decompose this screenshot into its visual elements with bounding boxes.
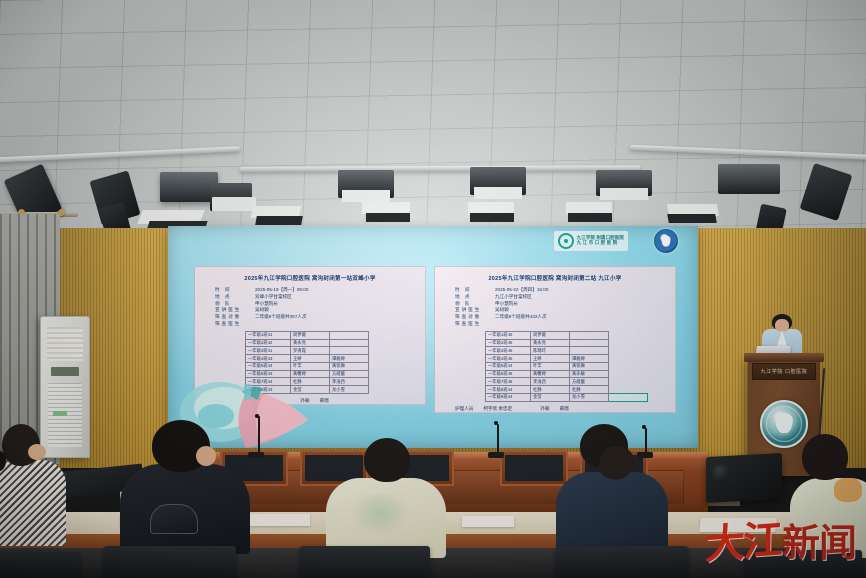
footer-names: 柯宇欣 余忠定 — [483, 406, 512, 412]
stage-light — [366, 213, 410, 222]
meta-value: 申小慧院长 — [255, 301, 419, 308]
stage-light — [667, 214, 717, 223]
audience-member — [556, 424, 668, 556]
screening-doctor-table-left: 一年级1班41闵伊璇 一年级2班42黄永亮 一年级3班41罗清霞 一年级4班43… — [245, 331, 369, 394]
paper-sheet — [462, 516, 514, 527]
person-head — [802, 434, 848, 480]
meta-key: 筛查医生 — [441, 321, 495, 328]
table-row: 一年级7班45李浅西方越蕾 — [486, 378, 648, 386]
table-row: 一年级6班45黄馨婷黄乐敏 — [486, 370, 648, 378]
stage-light — [474, 187, 522, 199]
lectern-top — [744, 353, 824, 362]
audience-chair — [300, 546, 430, 578]
microphone-head-icon — [255, 414, 259, 418]
meta-value: 二年级9个班级共432人次 — [495, 314, 669, 321]
meta-key: 地 点 — [441, 294, 495, 301]
slide-footer-left: 护理人员 柯宇欣 余忠定 外联 黄瑞 — [201, 398, 419, 404]
table-row: 一年级7班44杜静李浅西 — [246, 378, 369, 386]
stage-light — [212, 197, 256, 211]
person-ear — [196, 446, 216, 466]
ac-display — [51, 367, 79, 376]
paper-sheet — [250, 514, 310, 526]
meta-key: 时 间 — [201, 287, 255, 294]
lectern-nameplate: 九江学院 口腔医院 — [752, 363, 816, 380]
table-row: 一年级2班42黄永亮 — [246, 339, 369, 347]
table-row: 一年级1班41闵伊璇 — [246, 331, 369, 339]
audience-chair — [104, 546, 236, 578]
table-row: 一年级3班41罗清霞 — [246, 347, 369, 355]
table-row: 一年级9班44金莹龙小雪 — [486, 394, 648, 402]
meta-key: 地 点 — [201, 294, 255, 301]
meta-value — [255, 321, 419, 328]
highlighted-cell — [609, 394, 648, 402]
slide-logo-bar: 九江学院 附属口腔医院 九 江 市 口 腔 医 院 — [554, 229, 678, 253]
slide-panel-right: 2025年九江学院口腔医院 窝沟封闭第二站 九江小学 时 间2025-05-22… — [434, 266, 676, 413]
stage-light — [470, 213, 514, 222]
screening-doctor-table-right: 一年级1班45闵伊璇 一年级2班45黄永亮 一年级3班45陈璐玲 一年级4班45… — [485, 331, 648, 402]
meta-value: 二年级9个班级共357人次 — [255, 314, 419, 321]
meta-value: 双峰小学甘棠校区 — [255, 294, 419, 301]
audience-member — [0, 424, 66, 544]
meta-key: 时 间 — [441, 287, 495, 294]
table-row: 一年级2班45黄永亮 — [486, 339, 648, 347]
table-row: 一年级8班43金莹龙小雪 — [246, 386, 369, 394]
slide-panel-left: 2025年九江学院口腔医院 窝沟封闭第一站双峰小学 时 间2025-05-19【… — [194, 266, 426, 405]
projection-screen: 九江学院 附属口腔医院 九 江 市 口 腔 医 院 2025年九江学院口腔医院 … — [168, 226, 698, 448]
footer-label: 护理人员 — [455, 406, 473, 412]
table-row: 一年级4班45王婷谭雅婷 — [486, 355, 648, 363]
photo-scene: 九江学院 附属口腔医院 九 江 市 口 腔 医 院 2025年九江学院口腔医院 … — [0, 0, 866, 578]
slide-meta-left: 时 间2025-05-19【周一】09:00 地 点双峰小学甘棠校区 领 队申小… — [201, 287, 419, 328]
table-row: 一年级8班44杜静杜静 — [486, 386, 648, 394]
person-torso — [0, 460, 66, 546]
footer-label-2: 外联 — [300, 398, 309, 404]
logo-line-2: 九 江 市 口 腔 医 院 — [577, 241, 624, 246]
meta-key: 筛查对象 — [201, 314, 255, 321]
stage-light — [718, 164, 780, 194]
person-head — [364, 438, 410, 482]
meta-value: 九江小学甘棠校区 — [495, 294, 669, 301]
ac-indicator — [53, 411, 67, 416]
audience-member — [326, 438, 446, 553]
microphone-head-icon — [494, 421, 498, 425]
footer-name-2: 黄瑞 — [559, 406, 568, 412]
watermark-dark-text: 新闻 — [782, 526, 856, 560]
microphone-base — [488, 452, 504, 458]
slide-title-left: 2025年九江学院口腔医院 窝沟封闭第一站双峰小学 — [201, 274, 419, 282]
meta-key: 筛查医生 — [201, 321, 255, 328]
meta-value — [495, 321, 669, 328]
audience-member — [120, 420, 250, 550]
backpack — [150, 504, 198, 534]
footer-label-2: 外联 — [540, 406, 549, 412]
round-blue-tooth-emblem-icon — [654, 229, 678, 253]
table-row: 一年级6班43黄馨婷方越蕾 — [246, 370, 369, 378]
stage-light — [568, 213, 612, 222]
stage-light — [342, 190, 390, 202]
table-row: 一年级1班45闵伊璇 — [486, 331, 648, 339]
table-row: 一年级3班45陈璐玲 — [486, 347, 648, 355]
audience-chair — [0, 552, 80, 578]
microphone-base — [248, 452, 264, 458]
watermark-red-text: 大江 — [705, 523, 781, 563]
slide-footer-right: 护理人员 柯宇欣 余忠定 外联 黄瑞 — [441, 406, 669, 412]
meta-value: 2025-05-22【周四】15:00 — [495, 287, 669, 294]
footer-name-2: 黄瑞 — [319, 398, 328, 404]
meta-value: 申小慧院长 — [495, 301, 669, 308]
table-row: 一年级4班43王婷谭雅婷 — [246, 355, 369, 363]
stage-light — [600, 188, 648, 200]
meta-value: 2025-05-19【周一】09:00 — [255, 287, 419, 294]
meta-key: 筛查对象 — [441, 314, 495, 321]
floor-monitor-speaker — [706, 453, 782, 503]
footer-label: 护理人员 — [215, 398, 233, 404]
stage-light — [255, 216, 303, 225]
jiujiang-stomatology-wordmark-icon: 九江学院 附属口腔医院 九 江 市 口 腔 医 院 — [554, 231, 628, 251]
person-bag — [834, 478, 862, 502]
person-face — [28, 444, 46, 460]
shirt-graphic — [350, 494, 410, 536]
slide-meta-right: 时 间2025-05-22【周四】15:00 地 点九江小学甘棠校区 领 队申小… — [441, 287, 669, 328]
news-watermark: 大江 新闻 — [705, 526, 856, 560]
lectern-nameplate-text: 九江学院 口腔医院 — [761, 368, 808, 375]
footer-names: 柯宇欣 余忠定 — [243, 398, 272, 404]
table-microphone — [258, 416, 260, 456]
ring-mark-icon — [558, 233, 574, 249]
slide-title-right: 2025年九江学院口腔医院 窝沟封闭第二站 九江小学 — [441, 274, 669, 282]
audience-chair — [556, 546, 688, 578]
table-row: 一年级5班44叶丰黄铭琳 — [246, 362, 369, 370]
table-row: 一年级5班44叶丰黄铭琳 — [486, 362, 648, 370]
ac-vent — [47, 327, 83, 361]
